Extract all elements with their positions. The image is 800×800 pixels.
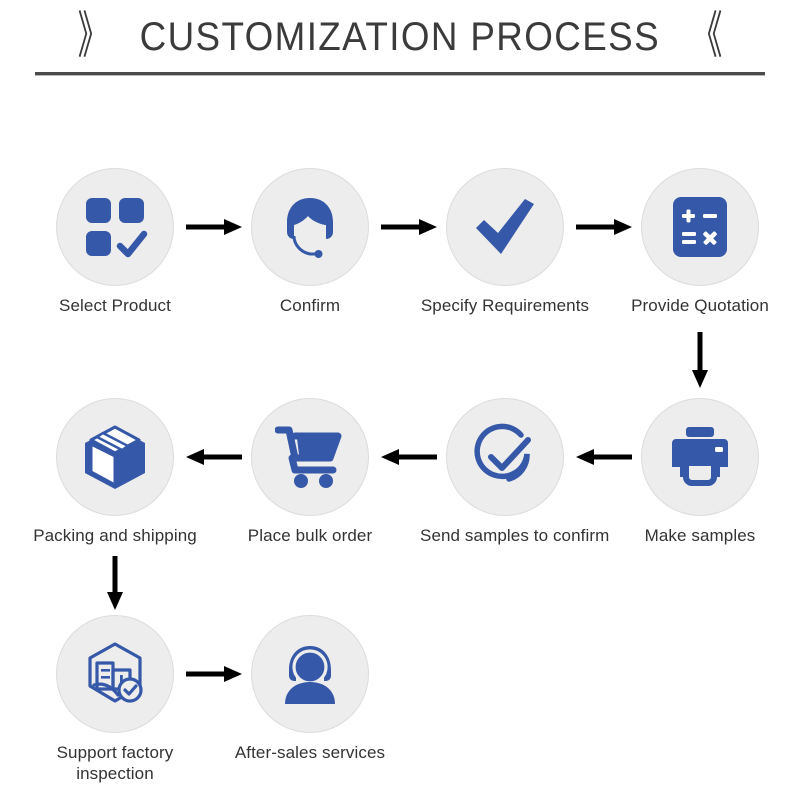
double-chevron-right-icon: 》: [78, 12, 109, 63]
shopping-cart-icon: [275, 424, 345, 490]
step-icon-circle: [56, 398, 174, 516]
step-label: Place bulk order: [225, 525, 395, 546]
page-title-text: CUSTOMIZATION PROCESS: [140, 17, 660, 57]
step-confirm[interactable]: Confirm: [225, 168, 395, 316]
step-icon-circle: [446, 168, 564, 286]
customization-process-infographic: 》 CUSTOMIZATION PROCESS 《 Select Product: [0, 0, 800, 800]
step-specify-requirements[interactable]: Specify Requirements: [420, 168, 590, 316]
step-place-bulk-order[interactable]: Place bulk order: [225, 398, 395, 546]
step-label: Select Product: [30, 295, 200, 316]
calculator-icon: [669, 194, 731, 260]
headset-agent-icon: [275, 192, 345, 262]
headset-person-icon: [275, 642, 345, 706]
double-chevron-left-icon: 《: [691, 12, 722, 63]
step-icon-circle: [641, 398, 759, 516]
connector-4-5: [689, 332, 711, 388]
arrow-down-icon: [104, 556, 126, 610]
step-after-sales-services[interactable]: After-sales services: [225, 615, 395, 763]
step-make-samples[interactable]: Make samples: [615, 398, 785, 546]
step-label-line2: inspection: [30, 763, 200, 784]
checkmark-icon: [470, 192, 540, 262]
grid-check-icon: [82, 194, 148, 260]
box-package-icon: [81, 423, 149, 491]
factory-inspection-badge-icon: [80, 639, 150, 709]
arrow-down-icon: [689, 332, 711, 388]
circle-check-icon: [469, 421, 541, 493]
step-send-samples-to-confirm[interactable]: Send samples to confirm: [420, 398, 590, 546]
step-icon-circle: [56, 168, 174, 286]
step-packing-and-shipping[interactable]: Packing and shipping: [30, 398, 200, 546]
step-icon-circle: [251, 398, 369, 516]
page-title: 》 CUSTOMIZATION PROCESS 《: [0, 8, 800, 66]
step-icon-circle: [251, 168, 369, 286]
step-label: Send samples to confirm: [420, 525, 590, 546]
step-label: Provide Quotation: [615, 295, 785, 316]
header: 》 CUSTOMIZATION PROCESS 《: [0, 0, 800, 92]
step-label: Packing and shipping: [30, 525, 200, 546]
step-icon-circle: [641, 168, 759, 286]
step-icon-circle: [251, 615, 369, 733]
step-label: Confirm: [225, 295, 395, 316]
title-divider: [35, 72, 765, 75]
step-label: Make samples: [615, 525, 785, 546]
step-icon-circle: [446, 398, 564, 516]
step-select-product[interactable]: Select Product: [30, 168, 200, 316]
connector-8-9: [104, 556, 126, 610]
step-icon-circle: [56, 615, 174, 733]
step-provide-quotation[interactable]: Provide Quotation: [615, 168, 785, 316]
step-label: After-sales services: [225, 742, 395, 763]
step-label-line1: Support factory: [30, 742, 200, 763]
printer-icon: [666, 425, 734, 489]
step-support-factory-inspection[interactable]: Support factory inspection: [30, 615, 200, 785]
step-label: Specify Requirements: [420, 295, 590, 316]
